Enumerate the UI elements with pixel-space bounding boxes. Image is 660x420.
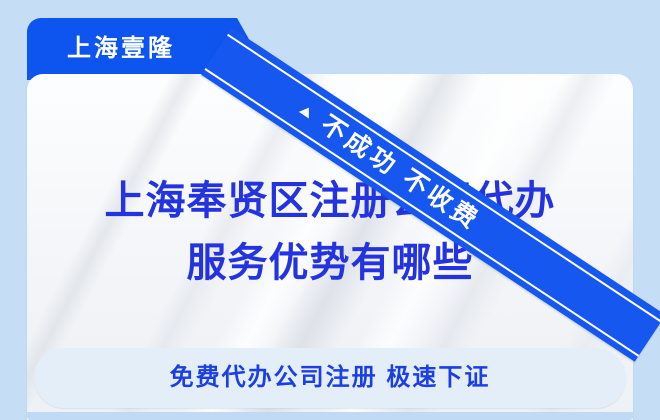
footer-pill-label: 免费代办公司注册 极速下证 — [170, 366, 491, 390]
triangle-up-icon — [299, 104, 314, 118]
poster-canvas: 上海壹隆 上海奉贤区注册公司代办 服务优势有哪些 免费代办公司注册 极速下证 不… — [0, 0, 660, 420]
footer-pill[interactable]: 免费代办公司注册 极速下证 — [34, 348, 626, 408]
card-bottom-band — [27, 412, 633, 420]
headline-line-1: 上海奉贤区注册公司代办 — [27, 170, 633, 232]
